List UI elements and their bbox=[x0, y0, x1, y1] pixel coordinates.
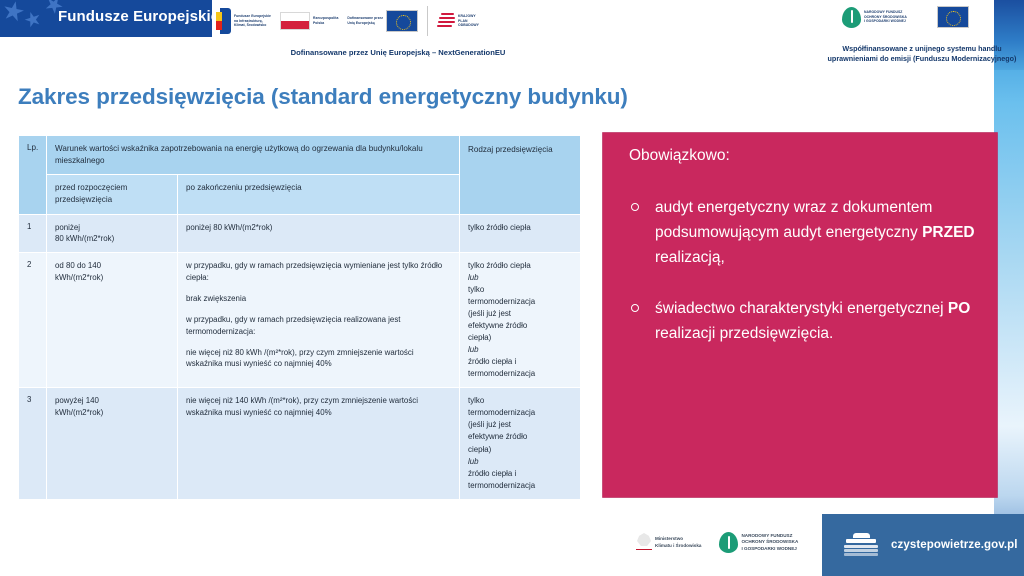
table-cell-lp: 3 bbox=[19, 388, 47, 499]
table-cell-before: od 80 do 140kWh/(m2*rok) bbox=[47, 253, 178, 388]
logo-rzeczpospolita-polska: Rzeczpospolita Polska bbox=[280, 12, 338, 30]
header-right-logo-row: NARODOWY FUNDUSZ OCHRONY ŚRODOWISKA I GO… bbox=[842, 6, 969, 28]
slide-root: ★ ★ ★ Fundusze Europejskie Fundusze Euro… bbox=[0, 0, 1024, 576]
fundusze-europejskie-label: Fundusze Europejskie bbox=[58, 8, 219, 25]
header-right-caption: Współfinansowane z unijnego systemu hand… bbox=[820, 44, 1024, 65]
table-row: 1poniżej80 kWh/(m2*rok)poniżej 80 kWh/(m… bbox=[19, 214, 581, 253]
table-cell-before: powyżej 140kWh/(m2*rok) bbox=[47, 388, 178, 499]
house-icon bbox=[844, 533, 878, 557]
obligatory-list-item: świadectwo charakterystyki energetycznej… bbox=[629, 296, 975, 346]
logo-krajowy-plan-odbudowy-text: KRAJOWY PLAN ODBUDOWY bbox=[458, 14, 479, 28]
obligatory-panel-title: Obowiązkowo: bbox=[629, 147, 730, 165]
table-cell-after: nie więcej niż 140 kWh /(m²*rok), przy c… bbox=[178, 388, 460, 499]
czystepowietrze-cta[interactable]: czystepowietrze.gov.pl bbox=[822, 514, 1024, 576]
obligatory-list-item: audyt energetyczny wraz z dokumentem pod… bbox=[629, 195, 975, 270]
header-divider bbox=[427, 6, 428, 36]
table-header-lp: Lp. bbox=[19, 136, 47, 215]
footer-logo-row: Ministerstwo Klimatu i Środowiska NARODO… bbox=[636, 532, 798, 553]
table-cell-lp: 2 bbox=[19, 253, 47, 388]
header-logo-row: Fundusze Europejskie na Infrastrukturę, … bbox=[216, 4, 479, 38]
polish-eagle-icon bbox=[636, 533, 652, 552]
table-row: 2od 80 do 140kWh/(m2*rok)w przypadku, gd… bbox=[19, 253, 581, 388]
logo-nfosigw-text: NARODOWY FUNDUSZ OCHRONY ŚRODOWISKA I GO… bbox=[864, 10, 907, 24]
table-head: Lp. Warunek wartości wskaźnika zapotrzeb… bbox=[19, 136, 581, 215]
logo-nfosigw-footer: NARODOWY FUNDUSZ OCHRONY ŚRODOWISKA I GO… bbox=[719, 532, 798, 553]
table-cell-kind: tylko źródło ciepła bbox=[460, 214, 581, 253]
scope-table: Lp. Warunek wartości wskaźnika zapotrzeb… bbox=[18, 135, 581, 500]
obligatory-panel: Obowiązkowo: audyt energetyczny wraz z d… bbox=[603, 133, 997, 497]
page-title: Zakres przedsięwzięcia (standard energet… bbox=[18, 84, 628, 110]
eu-flag-icon bbox=[937, 6, 969, 28]
table-header-after: po zakończeniu przedsięwzięcia bbox=[178, 175, 460, 214]
logo-ministerstwo-klimatu-text: Ministerstwo Klimatu i Środowiska bbox=[655, 536, 701, 549]
nfosigw-tree-icon bbox=[719, 532, 738, 553]
table-body: 1poniżej80 kWh/(m2*rok)poniżej 80 kWh/(m… bbox=[19, 214, 581, 499]
logo-nfosigw: NARODOWY FUNDUSZ OCHRONY ŚRODOWISKA I GO… bbox=[842, 7, 907, 28]
table-cell-after: w przypadku, gdy w ramach przedsięwzięci… bbox=[178, 253, 460, 388]
table-header-row-1: Lp. Warunek wartości wskaźnika zapotrzeb… bbox=[19, 136, 581, 175]
table-header-before: przed rozpoczęciem przedsięwzięcia bbox=[47, 175, 178, 214]
logo-dofinansowane-ue: Dofinansowane przez Unię Europejską bbox=[347, 10, 418, 32]
bullet-circle-icon bbox=[631, 304, 639, 312]
logo-krajowy-plan-odbudowy: KRAJOWY PLAN ODBUDOWY bbox=[437, 12, 479, 31]
poland-flag-icon bbox=[280, 12, 310, 30]
right-edge-gradient-stripe bbox=[994, 0, 1024, 576]
table-cell-kind: tylko źródło ciepłalubtylkotermomoderniz… bbox=[460, 253, 581, 388]
logo-rzeczpospolita-polska-text: Rzeczpospolita Polska bbox=[313, 16, 338, 25]
krajowy-plan-odbudowy-icon bbox=[437, 12, 455, 31]
header-band: ★ ★ ★ Fundusze Europejskie Fundusze Euro… bbox=[0, 0, 1024, 70]
table-cell-lp: 1 bbox=[19, 214, 47, 253]
fundusze-europejskie-flag-icon bbox=[216, 8, 231, 34]
logo-fundusze-europejskie: Fundusze Europejskie na Infrastrukturę, … bbox=[216, 8, 271, 34]
table-cell-after: poniżej 80 kWh/(m2*rok) bbox=[178, 214, 460, 253]
logo-ministerstwo-klimatu: Ministerstwo Klimatu i Środowiska bbox=[636, 533, 701, 552]
bullet-circle-icon bbox=[631, 203, 639, 211]
logo-dofinansowane-ue-text: Dofinansowane przez Unię Europejską bbox=[347, 16, 383, 25]
table-row: 3powyżej 140kWh/(m2*rok)nie więcej niż 1… bbox=[19, 388, 581, 499]
table-cell-before: poniżej80 kWh/(m2*rok) bbox=[47, 214, 178, 253]
logo-fundusze-europejskie-text: Fundusze Europejskie na Infrastrukturę, … bbox=[234, 14, 271, 28]
table-cell-kind: tylkotermomodernizacja(jeśli już jestefe… bbox=[460, 388, 581, 499]
header-caption: Dofinansowane przez Unię Europejską – Ne… bbox=[212, 48, 584, 57]
eu-flag-icon bbox=[386, 10, 418, 32]
header-right-panel: NARODOWY FUNDUSZ OCHRONY ŚRODOWISKA I GO… bbox=[820, 0, 1024, 70]
obligatory-panel-list: audyt energetyczny wraz z dokumentem pod… bbox=[629, 195, 975, 347]
nfosigw-tree-icon bbox=[842, 7, 861, 28]
table-header-condition: Warunek wartości wskaźnika zapotrzebowan… bbox=[47, 136, 460, 175]
logo-nfosigw-footer-text: NARODOWY FUNDUSZ OCHRONY ŚRODOWISKA I GO… bbox=[741, 533, 798, 553]
table-header-kind: Rodzaj przedsięwzięcia bbox=[460, 136, 581, 215]
czystepowietrze-cta-label: czystepowietrze.gov.pl bbox=[891, 539, 1018, 551]
